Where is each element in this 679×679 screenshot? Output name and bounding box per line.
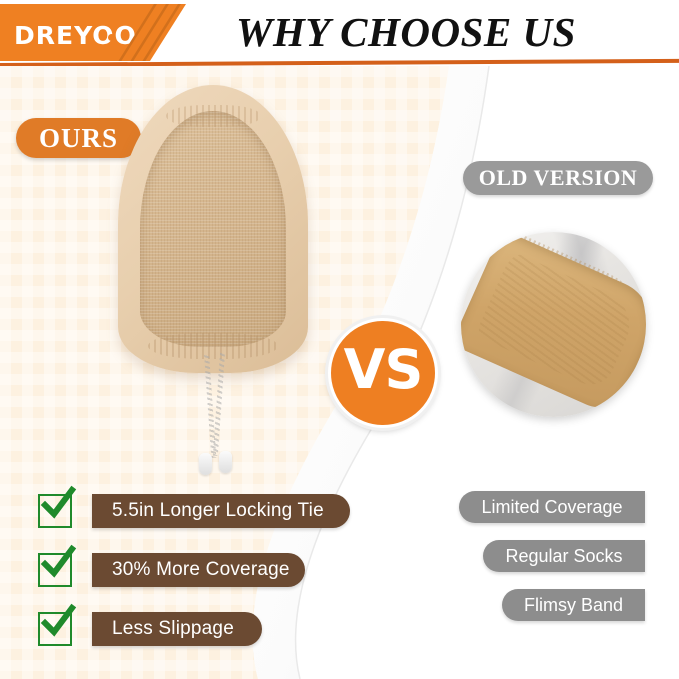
old-feature-pill: Regular Socks (483, 540, 645, 572)
checkbox-outline (38, 494, 72, 528)
header-bar: DREYOO WHY CHOOSE US (0, 0, 679, 66)
ours-feature-pill: Less Slippage (92, 612, 262, 646)
ours-feature-label: Less Slippage (92, 618, 256, 640)
ours-feature-pill: 30% More Coverage (92, 553, 305, 587)
old-version-badge: OLD VERSION (463, 161, 653, 195)
brand-logo-block[interactable]: DREYOO (0, 4, 186, 61)
checkbox-outline (38, 612, 72, 646)
old-product-photo (461, 232, 646, 417)
brand-logo-text: DREYOO (14, 21, 137, 50)
old-feature-pill: Flimsy Band (502, 589, 645, 621)
logo-y-dot-icon (108, 34, 115, 41)
ours-feature-row: Less Slippage (38, 612, 262, 646)
page-title: WHY CHOOSE US (236, 6, 656, 58)
old-version-badge-label: OLD VERSION (463, 161, 653, 195)
product-weave-texture (140, 111, 286, 347)
drawstring-toggle-right (219, 451, 232, 473)
drawstring-toggle-left (199, 453, 212, 475)
vs-label: VS (331, 321, 435, 419)
checkbox-outline (38, 553, 72, 587)
green-check-icon (39, 485, 77, 523)
green-check-icon (39, 544, 77, 582)
product-top-elastic-band (166, 105, 261, 127)
vs-badge: VS (328, 318, 438, 428)
ours-feature-pill: 5.5in Longer Locking Tie (92, 494, 350, 528)
product-bottom-elastic-band (148, 333, 278, 359)
ours-feature-row: 30% More Coverage (38, 553, 305, 587)
infographic-canvas: DREYOO WHY CHOOSE US OURS VS OLD VERSION (0, 0, 679, 679)
old-feature-label: Flimsy Band (506, 595, 641, 616)
old-feature-label: Limited Coverage (463, 497, 640, 518)
ours-feature-label: 5.5in Longer Locking Tie (92, 500, 346, 522)
old-feature-label: Regular Socks (487, 546, 640, 567)
ours-feature-row: 5.5in Longer Locking Tie (38, 494, 350, 528)
ours-feature-label: 30% More Coverage (92, 559, 312, 581)
old-feature-pill: Limited Coverage (459, 491, 645, 523)
ours-product-image (118, 85, 308, 375)
green-check-icon (39, 603, 77, 641)
